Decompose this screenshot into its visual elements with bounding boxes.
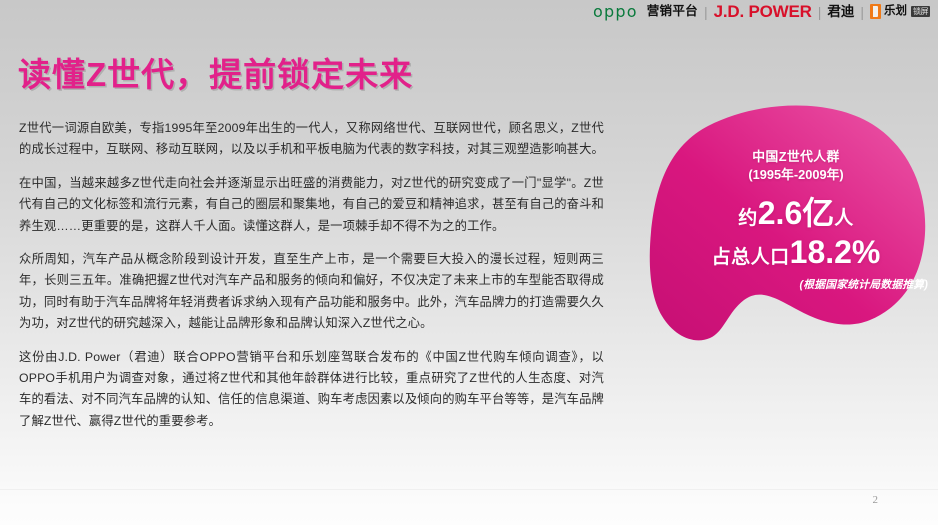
- slide-canvas: oppo 营销平台 | J.D. POWER | 君迪 | 乐划 锁屏 读懂Z世…: [0, 0, 938, 525]
- stat1-prefix: 约: [738, 208, 758, 229]
- paragraph-3: 众所周知，汽车产品从概念阶段到设计开发，直至生产上市，是一个需要巨大投入的漫长过…: [19, 249, 604, 335]
- oppo-logo: oppo: [593, 4, 638, 20]
- page-title: 读懂Z世代，提前锁定未来: [18, 48, 413, 96]
- page-number: 2: [873, 494, 879, 506]
- infographic-stat-share: 占总人口18.2%: [648, 232, 938, 279]
- oppo-marketing-platform-label: 营销平台: [647, 5, 698, 18]
- lehua-bookmark-icon: [870, 4, 881, 19]
- logo-separator-1: |: [704, 5, 708, 19]
- paragraph-4: 这份由J.D. Power（君迪）联合OPPO营销平台和乐划座驾联合发布的《中国…: [19, 347, 604, 433]
- footer-divider: [0, 489, 938, 490]
- infographic-text: 中国Z世代人群 (1995年-2009年) 约2.6亿人 占总人口18.2% (…: [648, 104, 938, 394]
- infographic-source-note: (根据国家统计局数据推算): [648, 276, 938, 292]
- logo-separator-3: |: [860, 5, 864, 19]
- jd-power-logo: J.D. POWER: [714, 3, 812, 20]
- lehua-label: 乐划: [884, 6, 907, 18]
- brand-logo-bar: oppo 营销平台 | J.D. POWER | 君迪 | 乐划 锁屏: [593, 0, 938, 23]
- paragraph-1: Z世代一词源自欧美，专指1995年至2009年出生的一代人，又称网络世代、互联网…: [19, 118, 604, 161]
- stat2-prefix: 占总人口: [712, 247, 790, 268]
- lehua-lockscreen-badge: 锁屏: [911, 6, 930, 17]
- stat2-value: 18.2%: [790, 234, 881, 270]
- stat1-suffix: 人: [834, 208, 854, 229]
- paragraph-2: 在中国，当越来越多Z世代走向社会并逐渐显示出旺盛的消费能力，对Z世代的研究变成了…: [19, 173, 604, 237]
- infographic-heading-line1: 中国Z世代人群: [648, 148, 938, 166]
- infographic-heading: 中国Z世代人群 (1995年-2009年): [648, 148, 938, 184]
- stat1-value: 2.6亿: [758, 195, 835, 231]
- infographic-heading-line2: (1995年-2009年): [648, 166, 938, 184]
- body-copy: Z世代一词源自欧美，专指1995年至2009年出生的一代人，又称网络世代、互联网…: [19, 118, 604, 444]
- logo-separator-2: |: [818, 5, 822, 19]
- jundi-label: 君迪: [827, 5, 854, 19]
- lehua-logo: 乐划 锁屏: [870, 4, 930, 19]
- z-generation-infographic: 中国Z世代人群 (1995年-2009年) 约2.6亿人 占总人口18.2% (…: [648, 104, 938, 394]
